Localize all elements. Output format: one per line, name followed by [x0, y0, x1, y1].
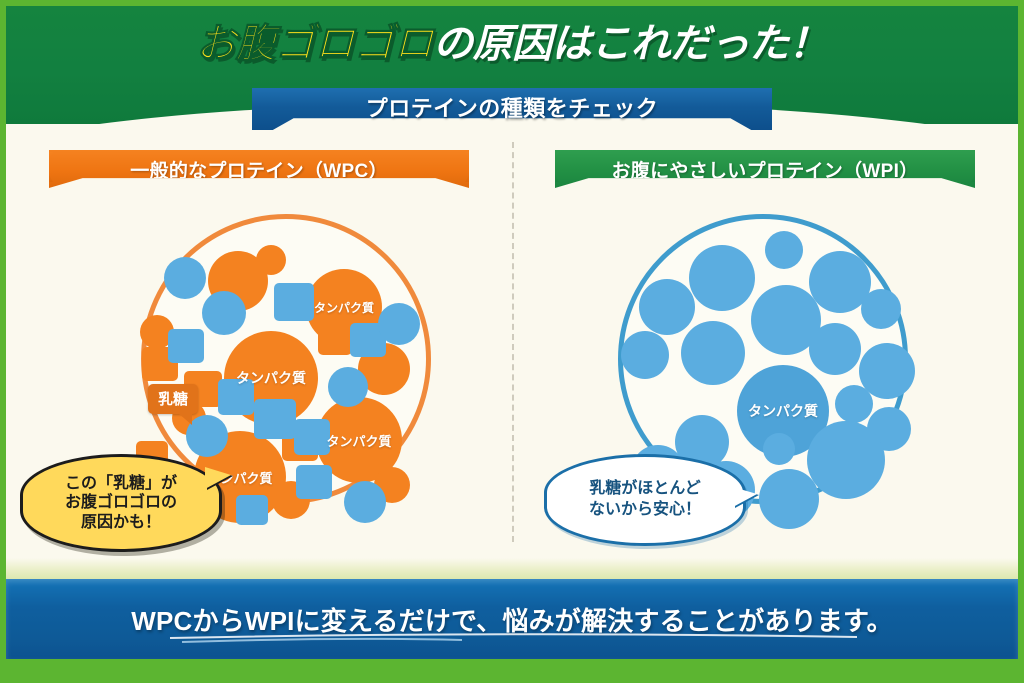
protein-square	[318, 323, 352, 355]
footer-message: WPCからWPIに変えるだけで、悩みが解決することがあります。	[131, 601, 893, 638]
protein-dot	[835, 385, 873, 423]
lactose-dot	[202, 291, 246, 335]
ribbon-tail-left-icon	[529, 152, 559, 182]
protein-dot	[689, 245, 755, 311]
lactose-square	[218, 379, 254, 415]
ribbon-wpi-label: お腹にやさしいプロテイン（WPI）	[612, 156, 919, 183]
bubble-tail-icon	[205, 467, 231, 489]
molecule-circle-wpc: タンパク質 タンパク質 タンパク質 タンパク質	[141, 214, 431, 504]
lactose-dot	[186, 415, 228, 457]
subtitle-text: プロテインの種類をチェック	[212, 91, 812, 123]
protein-dot	[759, 469, 819, 529]
ribbon-wpc: 一般的なプロテイン（WPC）	[49, 150, 469, 188]
protein-dot	[256, 245, 286, 275]
bubble-line-1: 乳糖がほとんど	[589, 479, 701, 500]
infographic-root: お腹ゴロゴロの原因はこれだった！ プロテインの種類をチェック 一般的なプロテイン…	[0, 0, 1024, 683]
footer-banner: WPCからWPIに変えるだけで、悩みが解決することがあります。	[6, 579, 1018, 659]
ribbon-tail-right-icon	[971, 152, 1001, 182]
title-rest: の原因はこれだった！	[433, 22, 828, 66]
panel-wpc: 一般的なプロテイン（WPC）	[6, 124, 512, 567]
infographic-canvas: お腹ゴロゴロの原因はこれだった！ プロテインの種類をチェック 一般的なプロテイン…	[6, 6, 1018, 677]
lactose-dot	[378, 303, 420, 345]
lactose-square	[274, 283, 314, 321]
protein-dot	[621, 331, 669, 379]
protein-dot	[861, 289, 901, 329]
page-title: お腹ゴロゴロの原因はこれだった！	[6, 24, 1018, 64]
bubble-line-2: ないから安心！	[589, 500, 701, 521]
ribbon-wpc-label: 一般的なプロテイン（WPC）	[130, 156, 388, 183]
bubble-line-3: 原因かも！	[81, 513, 161, 533]
ribbon-tail-left-icon	[23, 152, 53, 182]
protein-dot	[681, 321, 745, 385]
lactose-callout-tag: 乳糖	[148, 384, 198, 414]
ribbon-tail-right-icon	[465, 152, 495, 182]
bubble-line-1: この「乳糖」が	[65, 474, 177, 494]
protein-dot	[639, 279, 695, 335]
footer-green-strip	[6, 659, 1018, 677]
lactose-square	[294, 419, 330, 455]
comparison-area: 一般的なプロテイン（WPC）	[6, 124, 1018, 567]
lactose-square	[296, 465, 332, 499]
bubble-line-2: お腹ゴロゴロの	[65, 493, 177, 513]
speech-bubble-wpc: この「乳糖」が お腹ゴロゴロの 原因かも！	[20, 454, 222, 552]
protein-dot	[765, 231, 803, 269]
lactose-dot	[344, 481, 386, 523]
lactose-square	[236, 495, 268, 525]
protein-dot	[807, 421, 885, 499]
panel-wpi: お腹にやさしいプロテイン（WPI）	[512, 124, 1018, 567]
speech-bubble-wpi: 乳糖がほとんど ないから安心！	[544, 454, 746, 546]
lactose-dot	[328, 367, 368, 407]
lactose-square	[168, 329, 204, 363]
bubble-tail-icon	[733, 487, 757, 507]
protein-dot	[763, 433, 795, 465]
lactose-dot	[164, 257, 206, 299]
lactose-square	[254, 399, 296, 439]
title-highlight: お腹ゴロゴロ	[196, 22, 433, 66]
ribbon-wpi: お腹にやさしいプロテイン（WPI）	[555, 150, 975, 188]
protein-dot	[809, 323, 861, 375]
